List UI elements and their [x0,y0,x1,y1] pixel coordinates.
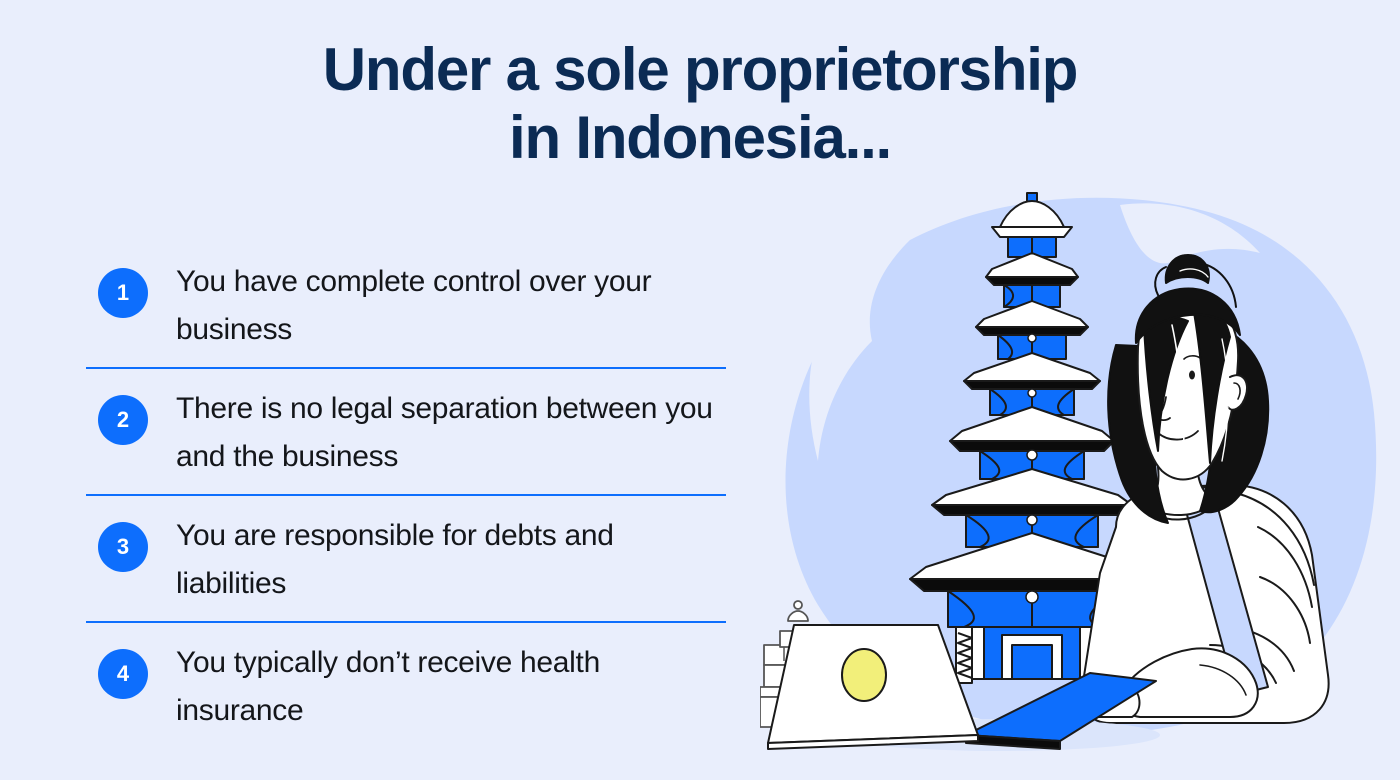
list-item-number-badge: 1 [98,268,148,318]
key-points-list: 1 You have complete control over your bu… [86,242,726,748]
page-title: Under a sole proprietorship in Indonesia… [110,36,1290,172]
list-item: 1 You have complete control over your bu… [86,242,726,367]
list-item: 4 You typically don’t receive health ins… [86,621,726,748]
list-item-number-badge: 3 [98,522,148,572]
infographic-canvas: Under a sole proprietorship in Indonesia… [0,0,1400,780]
page-title-line-1: Under a sole proprietorship [110,36,1290,104]
list-item-label: There is no legal separation between you… [176,381,726,481]
list-item-label: You are responsible for debts and liabil… [176,508,726,608]
list-item-label: You have complete control over your busi… [176,254,726,354]
list-item: 2 There is no legal separation between y… [86,367,726,494]
list-item-number-badge: 4 [98,649,148,699]
list-item: 3 You are responsible for debts and liab… [86,494,726,621]
list-item-number-badge: 2 [98,395,148,445]
illustration [760,175,1400,765]
page-title-line-2: in Indonesia... [110,104,1290,172]
list-item-label: You typically don’t receive health insur… [176,635,726,735]
